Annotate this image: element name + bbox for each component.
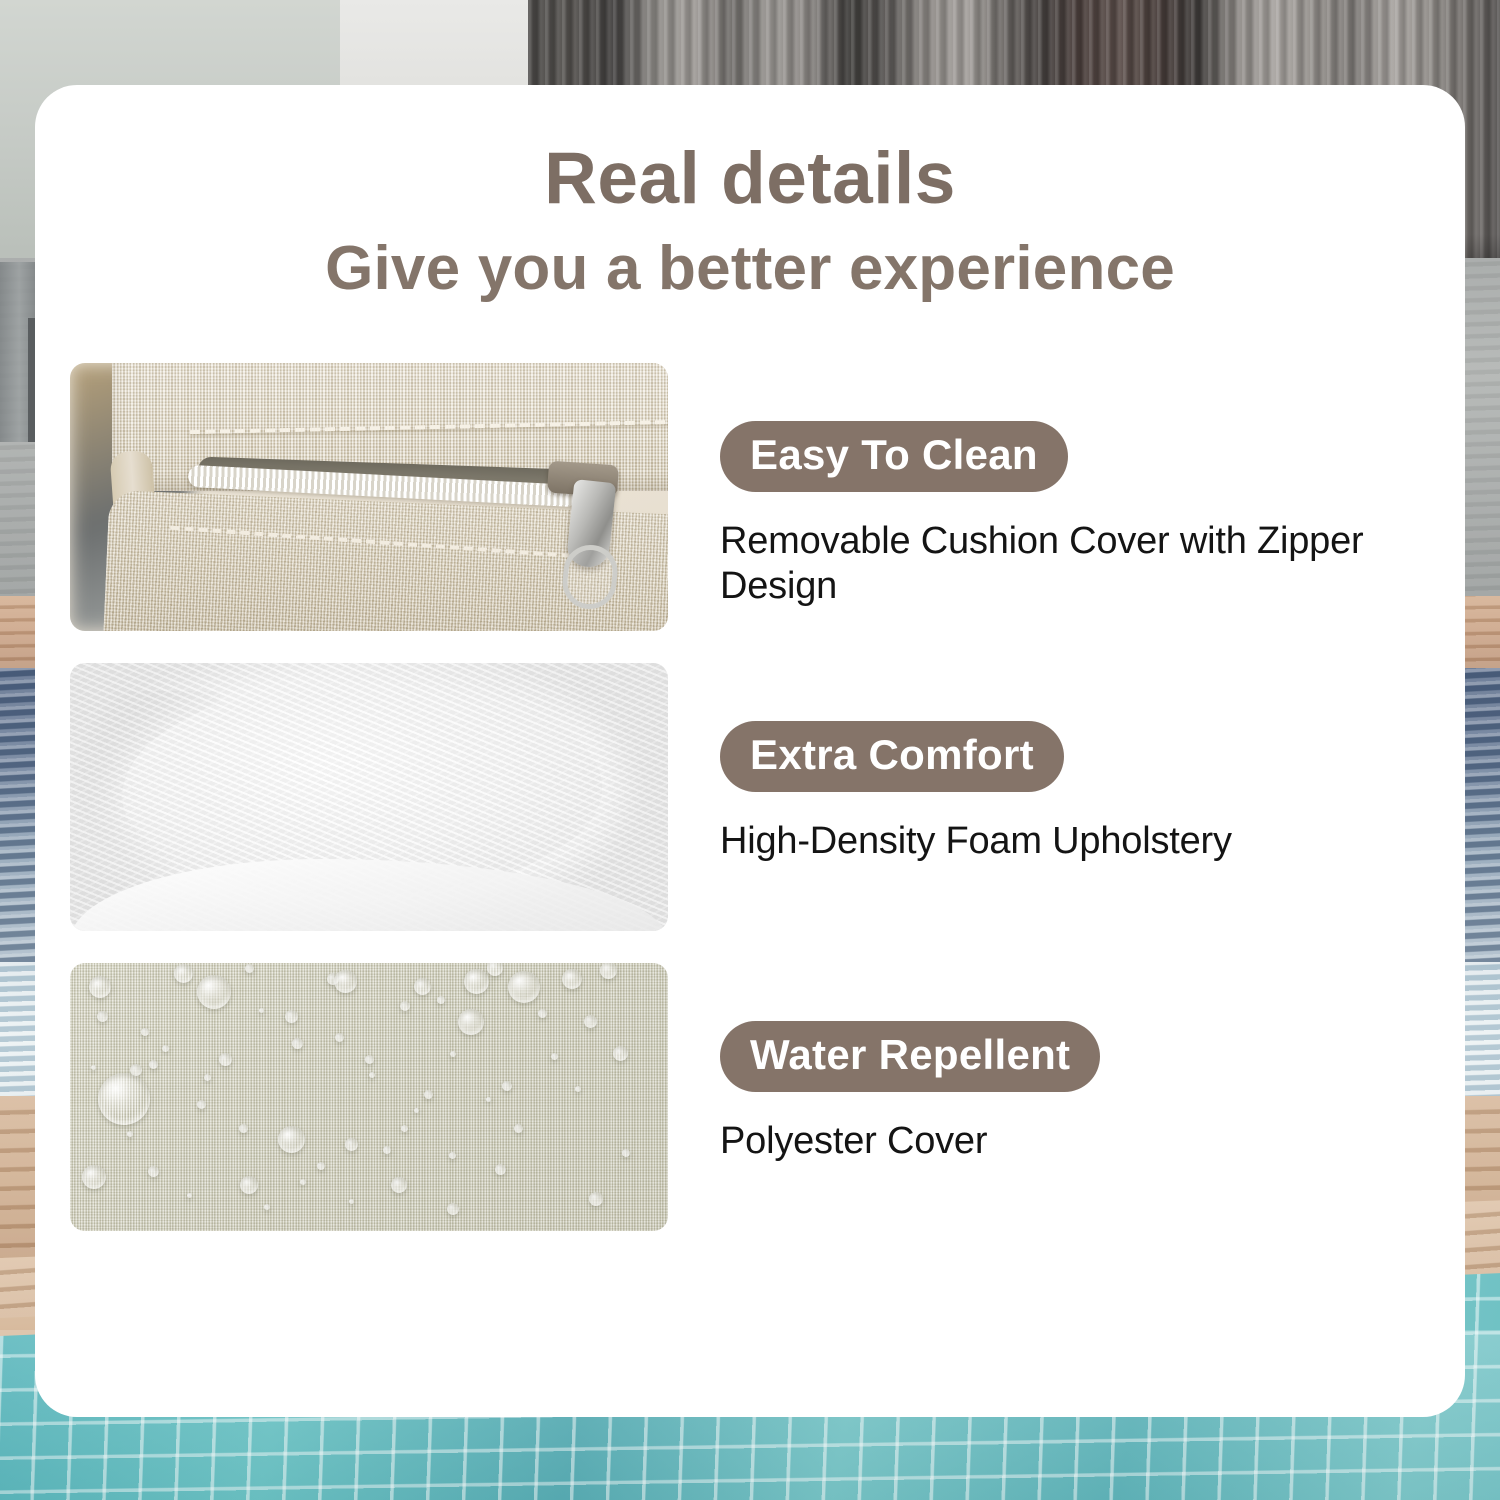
water-droplet — [82, 1165, 106, 1189]
water-droplet — [317, 1162, 325, 1170]
water-droplet — [127, 1131, 133, 1137]
description-extra-comfort: High-Density Foam Upholstery — [720, 819, 1465, 865]
description-water-repellent: Polyester Cover — [720, 1119, 1465, 1165]
water-droplet — [285, 1010, 298, 1023]
feature-list: Easy To Clean Removable Cushion Cover wi… — [35, 363, 1465, 1231]
water-droplet — [449, 1152, 456, 1159]
water-droplet — [622, 1149, 630, 1157]
water-droplet — [600, 963, 617, 980]
badge-easy-to-clean: Easy To Clean — [720, 421, 1068, 492]
content-card: Real details Give you a better experienc… — [35, 85, 1465, 1417]
water-droplet — [335, 1033, 344, 1042]
water-droplet — [365, 1055, 374, 1064]
water-droplet — [204, 1074, 211, 1081]
water-droplet — [239, 1124, 248, 1133]
water-droplet — [259, 1008, 264, 1013]
water-droplet — [464, 969, 489, 994]
water-droplet — [487, 963, 503, 976]
water-droplet — [414, 978, 431, 995]
feature-text-block: Water Repellent Polyester Cover — [668, 963, 1465, 1165]
water-droplet — [424, 1090, 433, 1099]
water-droplet — [450, 1051, 456, 1057]
feature-item-water-repellent: Water Repellent Polyester Cover — [70, 963, 1465, 1231]
water-droplet — [292, 1038, 303, 1049]
water-droplet — [219, 1053, 232, 1066]
water-droplet — [551, 1053, 558, 1060]
water-droplet — [197, 1100, 206, 1109]
heading-block: Real details Give you a better experienc… — [35, 85, 1465, 301]
water-droplet — [447, 1203, 459, 1215]
water-droplet — [514, 1124, 523, 1133]
description-easy-to-clean: Removable Cushion Cover with Zipper Desi… — [720, 519, 1465, 610]
foam-fiber-photo — [70, 663, 668, 931]
water-droplet — [334, 970, 357, 993]
water-droplet — [240, 1176, 258, 1194]
water-droplet — [538, 1009, 547, 1018]
water-droplet — [562, 969, 582, 989]
page-title: Real details — [35, 141, 1465, 218]
water-droplet — [141, 1028, 149, 1036]
badge-water-repellent: Water Repellent — [720, 1021, 1100, 1092]
feature-text-block: Easy To Clean Removable Cushion Cover wi… — [668, 363, 1465, 610]
water-droplet — [575, 1086, 581, 1092]
water-droplet — [508, 971, 540, 1003]
badge-extra-comfort: Extra Comfort — [720, 721, 1064, 792]
water-droplet — [98, 1073, 150, 1125]
feature-item-easy-to-clean: Easy To Clean Removable Cushion Cover wi… — [70, 363, 1465, 631]
water-droplet — [400, 1001, 410, 1011]
water-droplet — [349, 1199, 354, 1204]
water-droplet — [437, 996, 445, 1004]
water-droplet — [383, 1146, 391, 1154]
water-droplet — [584, 1015, 597, 1028]
water-droplet — [264, 1204, 270, 1210]
water-droplet — [187, 1193, 192, 1198]
water-droplet — [245, 964, 254, 973]
water-droplet — [97, 1011, 108, 1022]
water-droplet — [613, 1046, 628, 1061]
water-droplet — [391, 1177, 407, 1193]
background-scene: Real details Give you a better experienc… — [0, 0, 1500, 1500]
water-droplet — [401, 1125, 408, 1132]
water-droplet — [91, 1065, 96, 1070]
page-subtitle: Give you a better experience — [35, 236, 1465, 301]
water-droplet — [414, 1108, 419, 1113]
water-droplet — [369, 1072, 375, 1078]
water-droplet — [300, 1179, 306, 1185]
water-droplet — [486, 1097, 491, 1102]
water-droplet — [149, 1060, 158, 1069]
water-droplet — [345, 1138, 358, 1151]
water-droplet — [458, 1009, 484, 1035]
water-droplet — [495, 1164, 506, 1175]
water-droplet — [278, 1126, 305, 1153]
water-droplet — [174, 964, 193, 983]
water-droplet — [89, 976, 111, 998]
water-droplet — [162, 1045, 169, 1052]
feature-item-extra-comfort: Extra Comfort High-Density Foam Upholste… — [70, 663, 1465, 931]
feature-text-block: Extra Comfort High-Density Foam Upholste… — [668, 663, 1465, 865]
water-droplet — [148, 1166, 159, 1177]
water-droplet — [197, 975, 231, 1009]
zipper-cushion-photo — [70, 363, 668, 631]
water-droplet — [589, 1192, 603, 1206]
water-repellent-photo — [70, 963, 668, 1231]
water-droplet — [502, 1081, 512, 1091]
